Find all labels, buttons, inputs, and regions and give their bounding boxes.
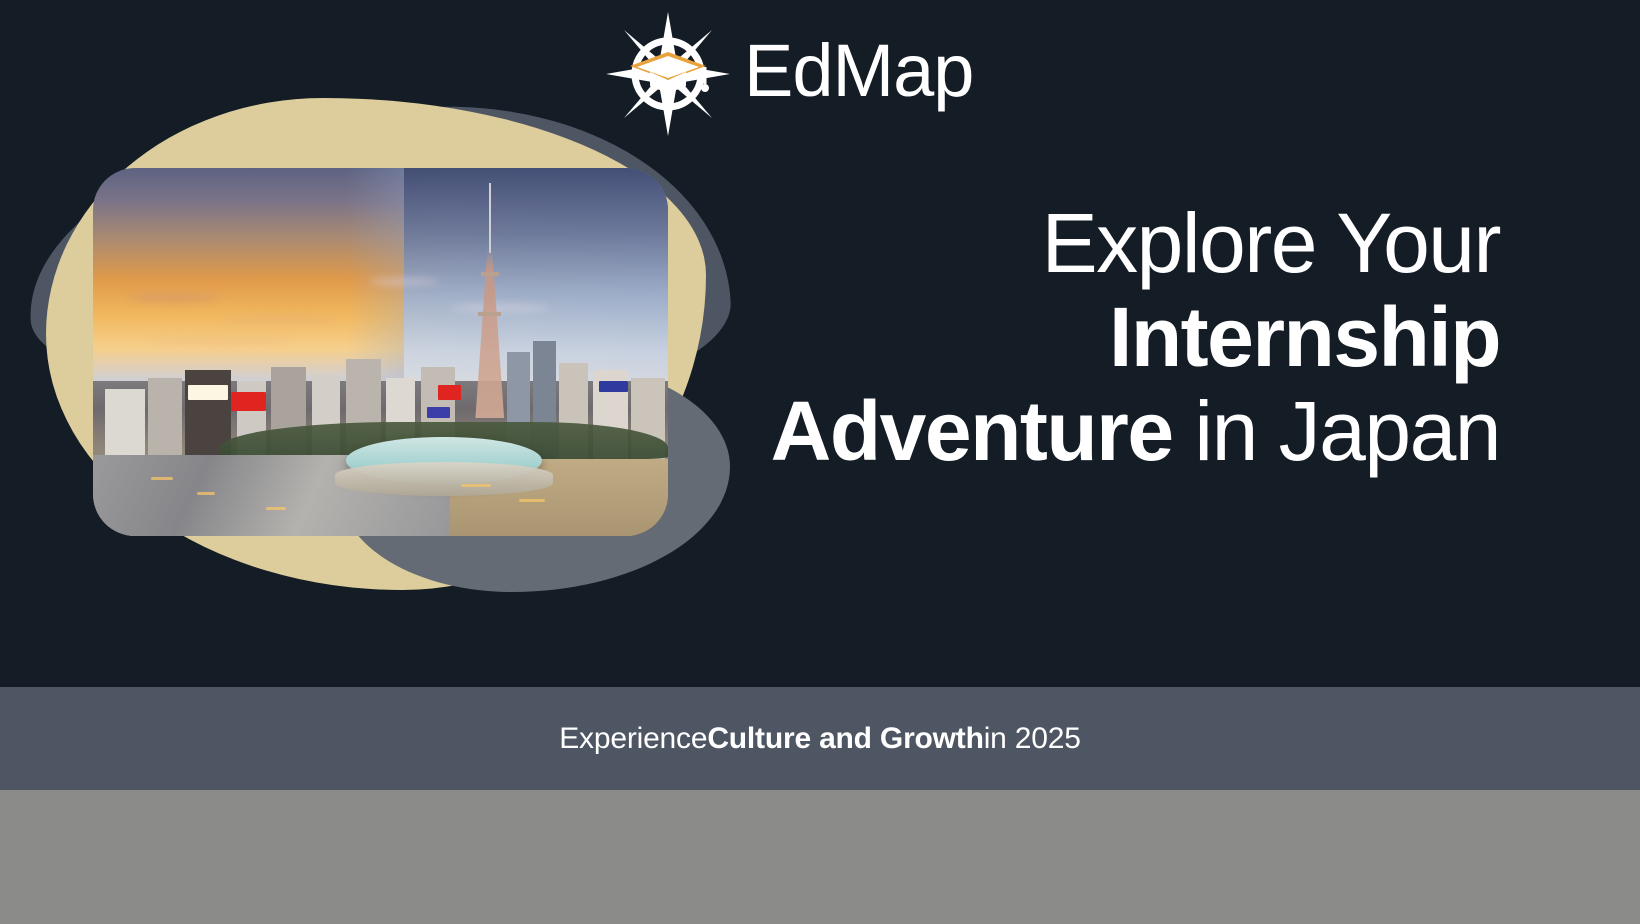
billboard-blue <box>599 381 628 392</box>
headline: Explore Your Internship Adventure in Jap… <box>700 196 1500 478</box>
billboard-red <box>231 392 266 410</box>
headline-line-2: Internship <box>700 290 1500 384</box>
caption-prefix: Experience <box>559 722 707 756</box>
nagoya-tv-tower <box>475 183 504 419</box>
brand-logo[interactable]: EdMap <box>606 14 973 134</box>
street-light <box>266 507 286 510</box>
compass-graduation-cap-icon <box>606 12 730 136</box>
tower-ring <box>478 312 501 316</box>
brand-name: EdMap <box>744 34 973 114</box>
hero-photo-scene <box>93 168 668 536</box>
headline-line-3-emphasis: Adventure <box>771 384 1173 478</box>
caption-emphasis: Culture and Growth <box>707 722 983 756</box>
caption: Experience Culture and Growth in 2025 <box>0 687 1640 790</box>
promo-poster: EdMap Explore Your Internship Adventure … <box>0 0 1640 924</box>
billboard-blue <box>427 407 450 418</box>
caption-suffix: in 2025 <box>984 722 1081 756</box>
street-light <box>197 492 215 495</box>
headline-line-1: Explore Your <box>700 196 1500 290</box>
street-light <box>151 477 173 480</box>
tower-spire <box>489 183 491 254</box>
billboard-red <box>438 385 461 400</box>
footer-band <box>0 790 1640 924</box>
billboard-white <box>188 385 228 400</box>
headline-line-3: Adventure in Japan <box>700 384 1500 478</box>
headline-line-3-rest: in Japan <box>1173 384 1500 478</box>
street-light <box>519 499 545 502</box>
tower-ring <box>481 272 499 276</box>
hero-photo <box>93 168 668 536</box>
cloud <box>128 293 218 302</box>
oasis21-deck <box>335 462 554 495</box>
